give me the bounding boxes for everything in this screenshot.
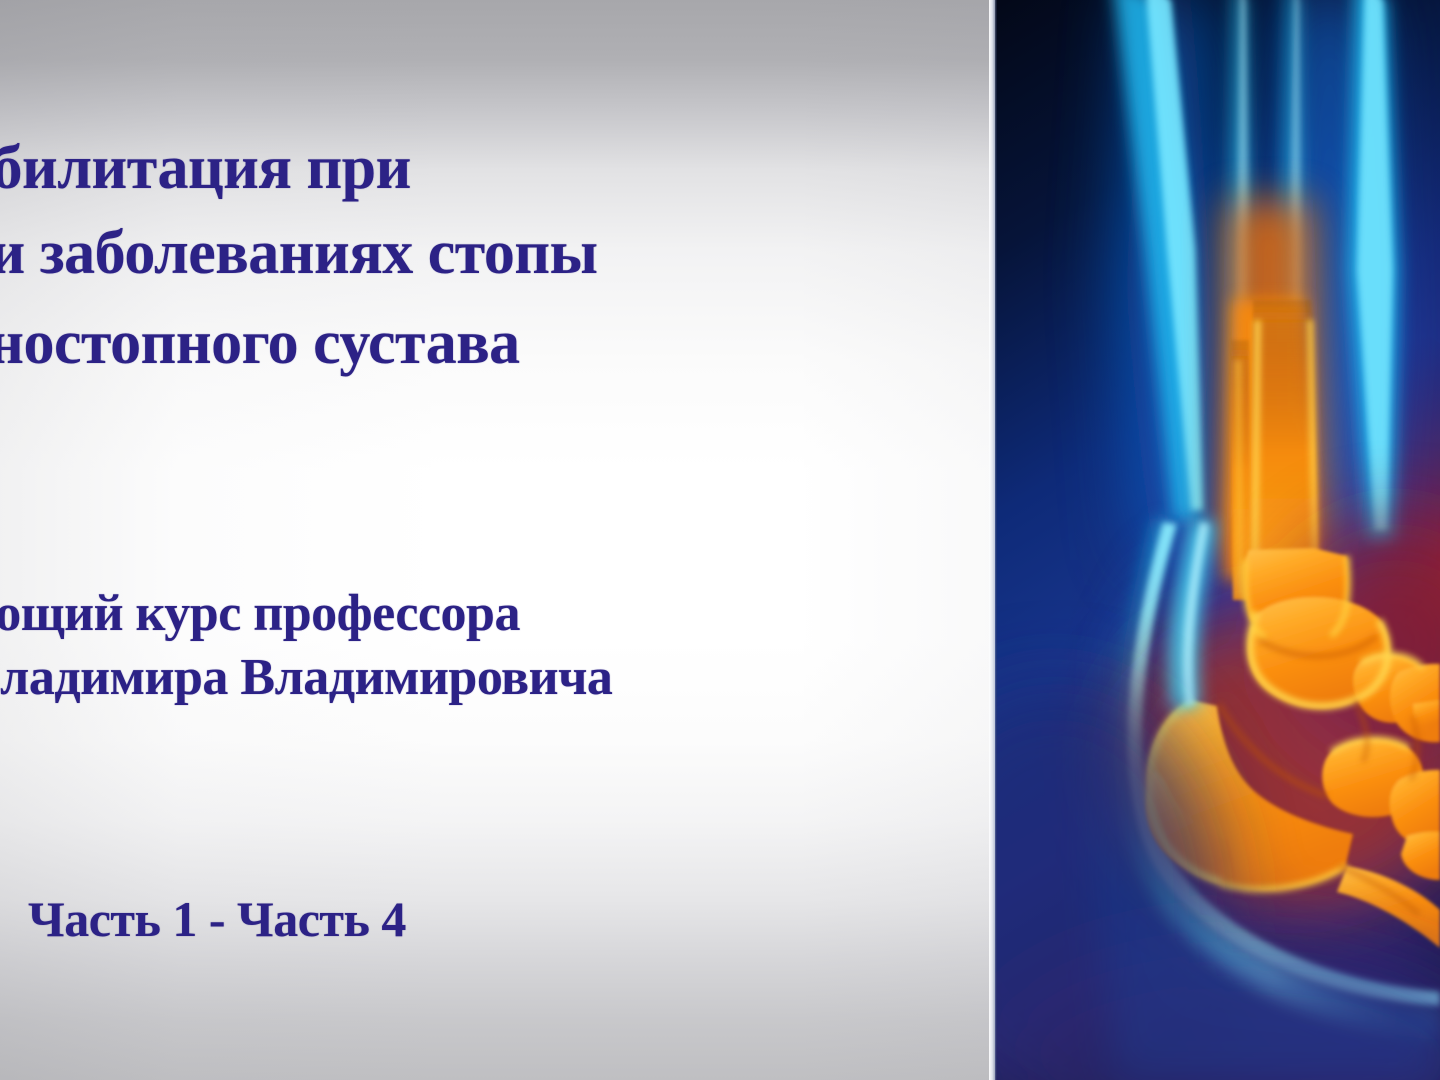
slide-title-line-3: неностопного сустава <box>0 312 520 374</box>
ankle-xray-illustration <box>995 0 1440 1080</box>
slide-author-line-1: ающий курс профессора <box>0 588 520 640</box>
slide-title-line-2: х и заболеваниях стопы <box>0 222 598 284</box>
slide-parts-label: Часть 1 - Часть 4 <box>28 894 406 944</box>
slide-author-line-2: Владимира Владимировича <box>0 652 612 704</box>
title-text-panel: еабилитация при х и заболеваниях стопы н… <box>0 0 995 1080</box>
slide-title-line-1: еабилитация при <box>0 137 411 199</box>
ankle-xray-image <box>995 0 1440 1080</box>
presentation-slide: еабилитация при х и заболеваниях стопы н… <box>0 0 1440 1080</box>
